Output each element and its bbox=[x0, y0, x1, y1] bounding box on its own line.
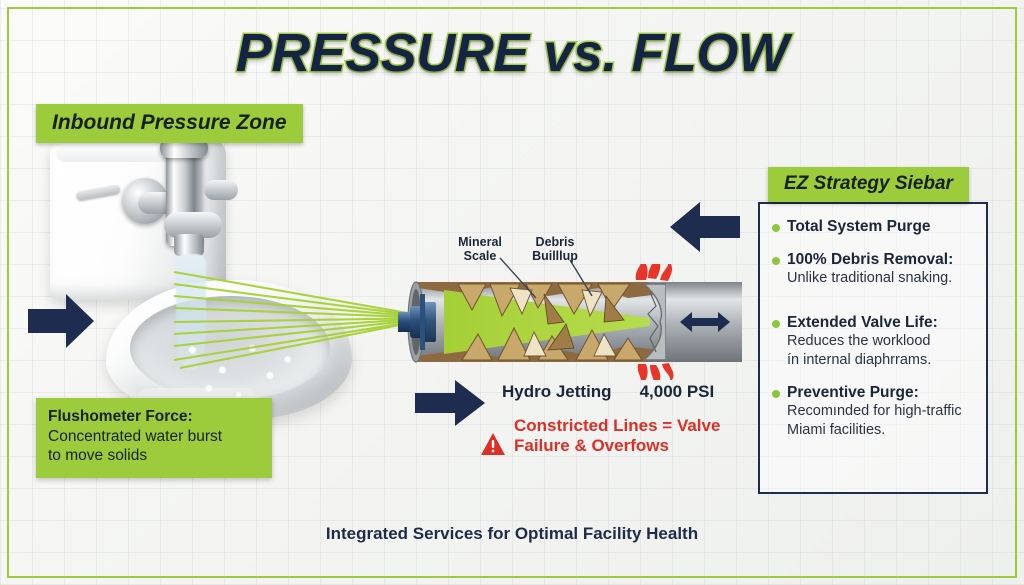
bullet-dot-icon bbox=[772, 320, 780, 328]
bullet-dot-icon bbox=[772, 257, 780, 265]
warning-row: Constricted Lines = Valve Failure & Over… bbox=[480, 416, 720, 457]
footer-tagline: Integrated Services for Optimal Facility… bbox=[0, 524, 1024, 544]
label-inbound-pressure-zone: Inbound Pressure Zone bbox=[36, 104, 303, 143]
bullet-dot-icon bbox=[772, 224, 780, 232]
bullet-dot-icon bbox=[772, 390, 780, 398]
sidebar-item-heading: Extended Valve Life: bbox=[787, 314, 972, 333]
callout-debris-line1: Debris bbox=[524, 235, 586, 249]
callout-mineral-scale: Mineral Scale bbox=[450, 235, 510, 264]
flushometer-force-heading: Flushometer Force: bbox=[48, 407, 260, 427]
warning-text: Constricted Lines = Valve Failure & Over… bbox=[514, 416, 720, 457]
arrow-right-icon-jetting bbox=[415, 378, 487, 428]
flushometer-force-callout: Flushometer Force: Concentrated water bu… bbox=[36, 398, 272, 478]
sidebar-item-debris-removal[interactable]: 100% Debris Removal: Unlike traditional … bbox=[772, 251, 972, 288]
callout-mineral-line2: Scale bbox=[450, 249, 510, 263]
sidebar-item-sub1: Reduces the worklood bbox=[787, 333, 972, 351]
warning-line2: Failure & Overfows bbox=[514, 436, 720, 456]
sidebar-item-sub1: Recomınded for high-traffic bbox=[787, 403, 972, 421]
sidebar-item-heading: Preventive Purge: bbox=[787, 384, 972, 403]
hydro-jetting-label: Hydro Jetting bbox=[502, 382, 612, 402]
hydro-jetting-row: Hydro Jetting 4,000 PSI bbox=[502, 382, 714, 402]
flushometer-force-line1: Concentrated water burst bbox=[48, 427, 260, 447]
warning-triangle-icon bbox=[480, 432, 506, 456]
sidebar-item-sub1: Unlike traditional snaking. bbox=[787, 270, 972, 288]
hydro-jetting-psi: 4,000 PSI bbox=[640, 382, 715, 402]
sidebar-item-sub2: ín internal diaphrrams. bbox=[787, 352, 972, 370]
arrow-right-icon-inbound bbox=[28, 292, 96, 350]
sidebar-item-heading: Total System Purge bbox=[787, 218, 931, 235]
flushometer-handle bbox=[204, 180, 238, 200]
sidebar-item-heading: 100% Debris Removal: bbox=[787, 251, 972, 270]
sidebar-item-extended-valve-life[interactable]: Extended Valve Life: Reduces the workloo… bbox=[772, 314, 972, 370]
page-title: PRESSURE vs. FLOW bbox=[0, 22, 1024, 84]
callout-mineral-line1: Mineral bbox=[450, 235, 510, 249]
warning-line1: Constricted Lines = Valve bbox=[514, 416, 720, 436]
sidebar-item-total-system-purge[interactable]: Total System Purge bbox=[772, 218, 972, 237]
arrow-left-icon-sidebar bbox=[668, 200, 740, 254]
sidebar-item-preventive-purge[interactable]: Preventive Purge: Recomınded for high-tr… bbox=[772, 384, 972, 440]
label-ez-strategy-sidebar: EZ Strategy Siebar bbox=[768, 167, 969, 202]
flushometer-outlet bbox=[174, 234, 204, 256]
ez-strategy-sidebar-box: Total System Purge 100% Debris Removal: … bbox=[758, 202, 988, 494]
flushometer-force-line2: to move solids bbox=[48, 446, 260, 466]
infographic-canvas: PRESSURE vs. FLOW bbox=[0, 0, 1024, 585]
sidebar-item-sub2: Miami facilities. bbox=[787, 422, 972, 440]
callout-debris-line2: Builllup bbox=[524, 249, 586, 263]
callout-debris-buildup: Debris Builllup bbox=[524, 235, 586, 264]
